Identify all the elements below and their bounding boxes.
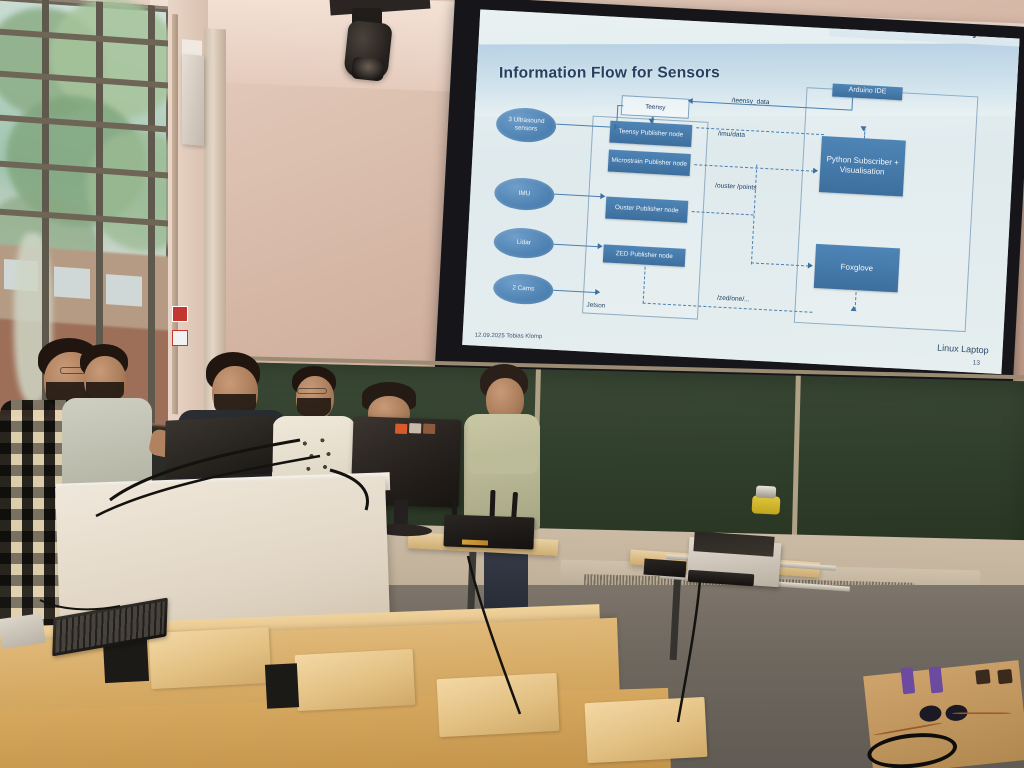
node-label: Arduino IDE xyxy=(848,87,886,98)
topic-label-imu-data: /imu/data xyxy=(718,130,745,138)
jetson-label: Jetson xyxy=(586,302,605,310)
node-label: Python Subscriber + Visualisation xyxy=(822,154,903,178)
arrowhead xyxy=(600,193,605,199)
flip-seat[interactable] xyxy=(437,673,560,737)
laptop-screen[interactable] xyxy=(165,415,274,479)
node-label: ZED Publisher node xyxy=(615,250,673,261)
dash-microstrain-out xyxy=(694,164,814,171)
teensy-box: Teensy xyxy=(621,95,690,119)
presentation-slide: Information Flow for Sensors Bootify 3 U… xyxy=(462,9,1019,374)
flip-seat[interactable] xyxy=(295,649,416,711)
arrowhead xyxy=(595,289,600,295)
spotlight-lens xyxy=(351,56,385,81)
sensor-node-lidar: Lidar xyxy=(493,226,555,259)
slide-page-number: 13 xyxy=(972,360,980,367)
sensor-node-imu: IMU xyxy=(494,176,556,211)
electronics-board xyxy=(863,660,1024,768)
projection-screen[interactable]: Information Flow for Sensors Bootify 3 U… xyxy=(435,0,1024,399)
flip-seat[interactable] xyxy=(585,697,708,763)
teensy-label: Teensy xyxy=(645,103,666,111)
no-smoking-sign xyxy=(172,330,188,346)
node-label: Ouster Publisher node xyxy=(615,204,679,215)
sensor-label: 2 Cams xyxy=(512,285,534,294)
component-module xyxy=(975,669,990,684)
arrowhead xyxy=(813,168,818,174)
slide-footer: 12.09.2025 Tobias Klomp xyxy=(475,333,543,340)
node-python-subscriber: Python Subscriber + Visualisation xyxy=(819,136,906,196)
wall-speaker xyxy=(182,54,204,146)
node-label: Teensy Publisher node xyxy=(618,128,683,139)
component-servo xyxy=(919,704,943,722)
glasses xyxy=(297,388,327,394)
router-leds xyxy=(462,540,488,546)
fire-extinguisher-sign xyxy=(172,306,188,322)
sensor-label: Lidar xyxy=(516,239,531,248)
component-motor xyxy=(901,667,916,694)
wifi-router[interactable] xyxy=(443,514,534,549)
sensor-label: 3 Ultrasound sensors xyxy=(496,115,557,134)
arrowhead xyxy=(598,243,603,249)
node-microstrain-publisher: Microstrain Publisher node xyxy=(608,150,691,176)
node-ouster-publisher: Ouster Publisher node xyxy=(605,196,688,222)
sensor-node-cams: 2 Cams xyxy=(492,273,554,306)
door-edge xyxy=(172,14,178,414)
node-foxglove: Foxglove xyxy=(814,244,900,292)
node-label: Foxglove xyxy=(840,262,873,274)
ouster-lidar xyxy=(752,495,781,514)
seat-bracket xyxy=(265,663,299,709)
small-keyboard xyxy=(643,559,686,578)
projected-slide-area: Information Flow for Sensors Bootify 3 U… xyxy=(462,9,1019,374)
coiled-cable xyxy=(866,729,959,768)
arrowhead xyxy=(808,262,813,268)
lecture-hall-photo: Information Flow for Sensors Bootify 3 U… xyxy=(0,0,1024,768)
arrowhead xyxy=(688,98,693,104)
slide-title: Information Flow for Sensors xyxy=(499,64,720,82)
tshirt-print xyxy=(296,432,340,478)
topic-label-ouster-points: /ouster /points xyxy=(715,182,757,191)
linux-laptop-group xyxy=(794,87,979,332)
linux-laptop-label: Linux Laptop xyxy=(937,343,989,356)
bootify-wordmark: Bootify xyxy=(933,21,980,38)
component-motor xyxy=(929,666,944,693)
node-label: Microstrain Publisher node xyxy=(611,157,687,169)
component-module xyxy=(997,669,1012,684)
arrowhead xyxy=(648,119,654,124)
robot-mast xyxy=(743,511,779,539)
sensor-label: IMU xyxy=(518,190,530,199)
topic-label-zed: /zed/one/... xyxy=(717,295,750,304)
lidar-top xyxy=(756,485,777,498)
desk-device xyxy=(0,613,46,649)
flip-seat[interactable] xyxy=(149,627,272,689)
